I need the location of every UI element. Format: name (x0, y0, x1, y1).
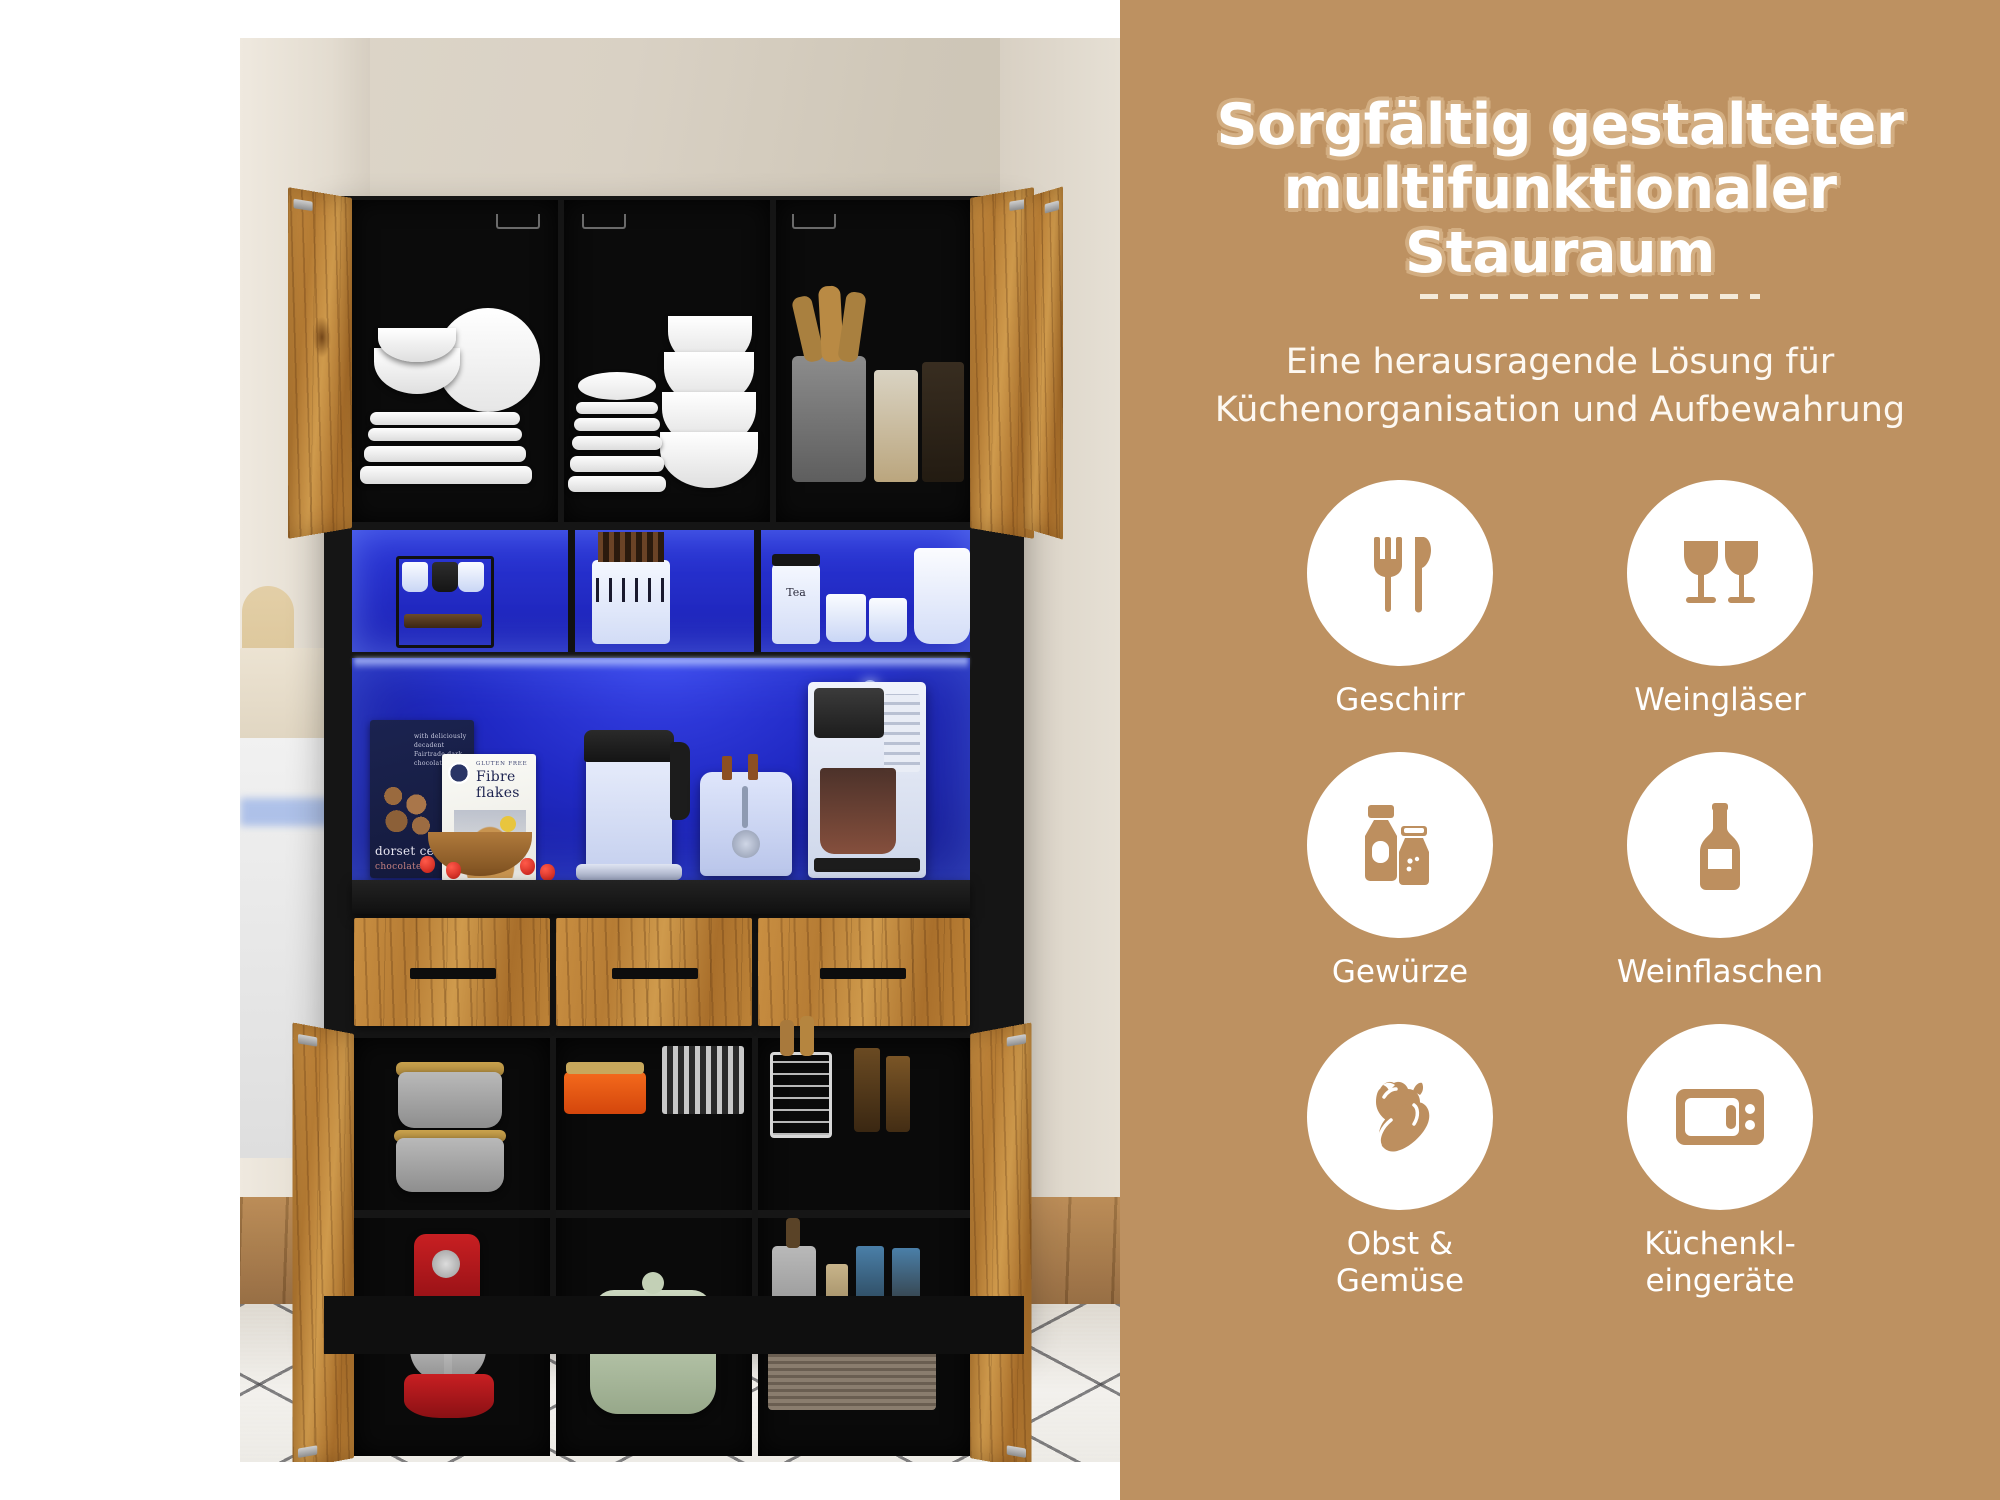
flakes-box-name: Fibre flakes (476, 769, 536, 801)
lower-bay-middle (556, 1038, 752, 1456)
feature-label: Weinflaschen (1615, 954, 1825, 992)
subtitle-line-2: Küchenorganisation und Aufbewahrung (1120, 386, 2000, 434)
stacked-bowl (576, 402, 658, 414)
shelf-clip (496, 214, 540, 229)
door-hinge (298, 1445, 317, 1458)
fork-knife-icon (1352, 525, 1448, 621)
feature-icon-circle (1627, 752, 1813, 938)
baking-trays (662, 1046, 744, 1114)
page-subtitle: Eine herausragende Lösung für Küchenorga… (1120, 338, 2000, 435)
drawer-left[interactable] (354, 918, 550, 1026)
kettle-base (576, 864, 682, 880)
feature-icon-circle (1307, 1024, 1493, 1210)
utensil-crock-led (592, 560, 670, 644)
glass-jar (874, 370, 918, 482)
mixer-dial (432, 1250, 460, 1278)
drawer-handle[interactable] (410, 968, 496, 979)
title-line-1: Sorgfältig gestalteter (1217, 92, 1904, 158)
lower-bay-right (758, 1038, 970, 1456)
gray-pot (398, 1072, 502, 1128)
feature-kuechenkleingeraete: Küchenkl- eingeräte (1615, 1024, 1825, 1302)
subtitle-line-1: Eine herausragende Lösung für (1286, 342, 1834, 382)
hanging-mug (432, 562, 458, 592)
feature-row-3: Obst & Gemüse (1120, 1024, 2000, 1302)
door-hinge (1007, 1034, 1026, 1047)
feature-row-2: Gewürze Weinflaschen (1120, 752, 2000, 992)
shelf-clip (792, 214, 836, 229)
drawer-middle[interactable] (556, 918, 752, 1026)
fruit-vegetable-icon (1350, 1067, 1450, 1167)
crock-pattern (596, 578, 666, 602)
orange-container (564, 1072, 646, 1114)
stacked-plate (364, 446, 526, 462)
shelf-divider (754, 530, 761, 652)
feature-label-line-1: Obst & (1347, 1226, 1453, 1262)
led-light-strip (354, 658, 968, 670)
wire-utensil-rack (770, 1052, 832, 1138)
strawberry (520, 858, 535, 875)
feature-icon-circle (1627, 1024, 1813, 1210)
infographic-canvas: Tea with deliciously decadent Fairtrade … (0, 0, 2000, 1500)
tea-canister-label: Tea (772, 586, 820, 599)
cereal-clusters (380, 782, 446, 838)
stacked-saucers (404, 614, 482, 628)
shelf-divider (568, 530, 575, 652)
stacked-plate (370, 412, 520, 425)
utensil-crock (792, 356, 866, 482)
feature-label-line-2: eingeräte (1645, 1263, 1794, 1299)
feature-icon-circle (1627, 480, 1813, 666)
stacked-bowl (570, 456, 664, 472)
feature-weinflaschen: Weinflaschen (1615, 752, 1825, 992)
feature-label-line-2: Gemüse (1336, 1263, 1464, 1299)
door-hinge (294, 199, 313, 211)
door-hinge (1007, 1445, 1026, 1458)
feature-label: Geschirr (1295, 682, 1505, 720)
ruffled-dish (578, 372, 656, 400)
white-bowl (660, 432, 758, 488)
upper-bay-middle (564, 200, 770, 522)
stacked-bowl (574, 418, 660, 431)
spice-bottles-icon (1352, 797, 1448, 893)
tea-canister: Tea (772, 564, 820, 644)
wine-bottle-icon (1672, 797, 1768, 893)
feature-obst-gemuese: Obst & Gemüse (1295, 1024, 1505, 1302)
product-photo: Tea with deliciously decadent Fairtrade … (240, 38, 1120, 1462)
feature-panel: Sorgfältig gestalteter multifunktionaler… (1120, 0, 2000, 1500)
drawer-handle[interactable] (820, 968, 906, 979)
feature-weinglaeser: Weingläser (1615, 480, 1825, 720)
wood-knot (313, 316, 331, 358)
feature-label: Obst & Gemüse (1295, 1226, 1505, 1302)
container-lid (566, 1062, 644, 1074)
cabinet-plinth (324, 1296, 1024, 1354)
cereal-box-variant: chocolate (375, 862, 422, 872)
page-title: Sorgfältig gestalteter multifunktionaler… (1120, 94, 2000, 285)
spice-bottle (854, 1048, 880, 1132)
coffee-maker-panel (884, 694, 920, 772)
gray-pot (396, 1138, 504, 1192)
wooden-spoon (837, 291, 867, 363)
glass-cup (826, 594, 866, 642)
upper-bay-right (776, 200, 970, 522)
feature-label: Küchenkl- eingeräte (1615, 1226, 1825, 1302)
dashed-divider (1420, 294, 1760, 299)
feature-gewuerze: Gewürze (1295, 752, 1505, 992)
strawberry (540, 864, 555, 881)
white-pitcher (914, 548, 970, 644)
door-hinge (298, 1034, 317, 1047)
toaster-dial (732, 830, 760, 858)
box-seal (448, 762, 470, 784)
lemon-art (500, 816, 516, 832)
shelf-clip (582, 214, 626, 229)
hanging-mug (458, 562, 484, 592)
top-left-door (288, 187, 352, 539)
bottom-right-door (970, 1022, 1031, 1462)
flakes-box-tag: GLUTEN FREE (476, 761, 527, 767)
drawer-handle[interactable] (612, 968, 698, 979)
toaster-lever (742, 786, 748, 828)
drawer-right[interactable] (758, 918, 970, 1026)
wooden-utensil (780, 1020, 794, 1056)
shelf-board (556, 1210, 752, 1218)
stacked-bowl (568, 476, 666, 492)
feature-icon-circle (1307, 752, 1493, 938)
breadsticks (598, 532, 664, 562)
electric-kettle (586, 748, 672, 876)
toaster (700, 772, 792, 876)
kettle-lid (584, 730, 674, 762)
microwave-icon (1670, 1067, 1770, 1167)
shelf-board (354, 1210, 550, 1218)
wine-glasses-icon (1672, 525, 1768, 621)
dutch-oven-knob (642, 1272, 664, 1294)
strawberry (446, 862, 461, 879)
glass-jar-dark (922, 362, 964, 482)
paper-towel-holder (786, 1218, 800, 1248)
glass-cup (869, 598, 907, 642)
wooden-utensil (800, 1016, 814, 1056)
stacked-plate (360, 466, 532, 484)
feature-geschirr: Geschirr (1295, 480, 1505, 720)
hanging-mug (402, 562, 428, 592)
coffee-maker (808, 682, 926, 878)
feature-grid: Geschirr Weingläser (1120, 480, 2000, 1333)
mixer-base (404, 1374, 494, 1418)
title-line-2: multifunktionaler Stauraum (1120, 158, 2000, 286)
kettle-handle (670, 742, 690, 820)
feature-icon-circle (1307, 480, 1493, 666)
door-hinge (1045, 200, 1059, 213)
upper-bay-left (352, 200, 558, 522)
bottom-left-door (293, 1022, 354, 1462)
top-right-door-outer (1024, 186, 1063, 539)
feature-row-1: Geschirr Weingläser (1120, 480, 2000, 720)
stacked-bowl (572, 436, 662, 450)
warming-plate (814, 858, 920, 872)
pantry-cabinet: Tea with deliciously decadent Fairtrade … (324, 196, 1024, 1336)
coffee-carafe (820, 768, 896, 854)
coffee-maker-top (814, 688, 884, 738)
feature-label: Weingläser (1615, 682, 1825, 720)
toast-slice (748, 754, 758, 780)
lower-bay-left (354, 1038, 550, 1456)
shelf-board (758, 1210, 970, 1218)
toast-slice (722, 756, 732, 780)
canister-lid (772, 554, 820, 566)
cabinet-worktop (352, 880, 970, 914)
stacked-plate (368, 428, 522, 441)
strawberry (420, 856, 435, 873)
feature-label: Gewürze (1295, 954, 1505, 992)
spice-bottle (886, 1056, 910, 1132)
feature-label-line-1: Küchenkl- (1644, 1226, 1796, 1262)
